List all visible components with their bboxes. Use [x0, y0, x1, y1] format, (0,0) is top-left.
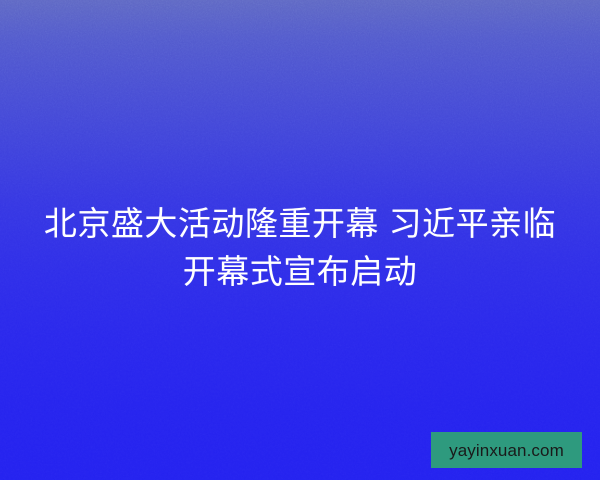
image-canvas: 北京盛大活动隆重开幕 习近平亲临开幕式宣布启动 yayinxuan.com: [0, 0, 600, 480]
watermark-label: yayinxuan.com: [449, 442, 564, 459]
watermark-badge: yayinxuan.com: [431, 432, 582, 468]
headline-text: 北京盛大活动隆重开幕 习近平亲临开幕式宣布启动: [30, 200, 570, 296]
